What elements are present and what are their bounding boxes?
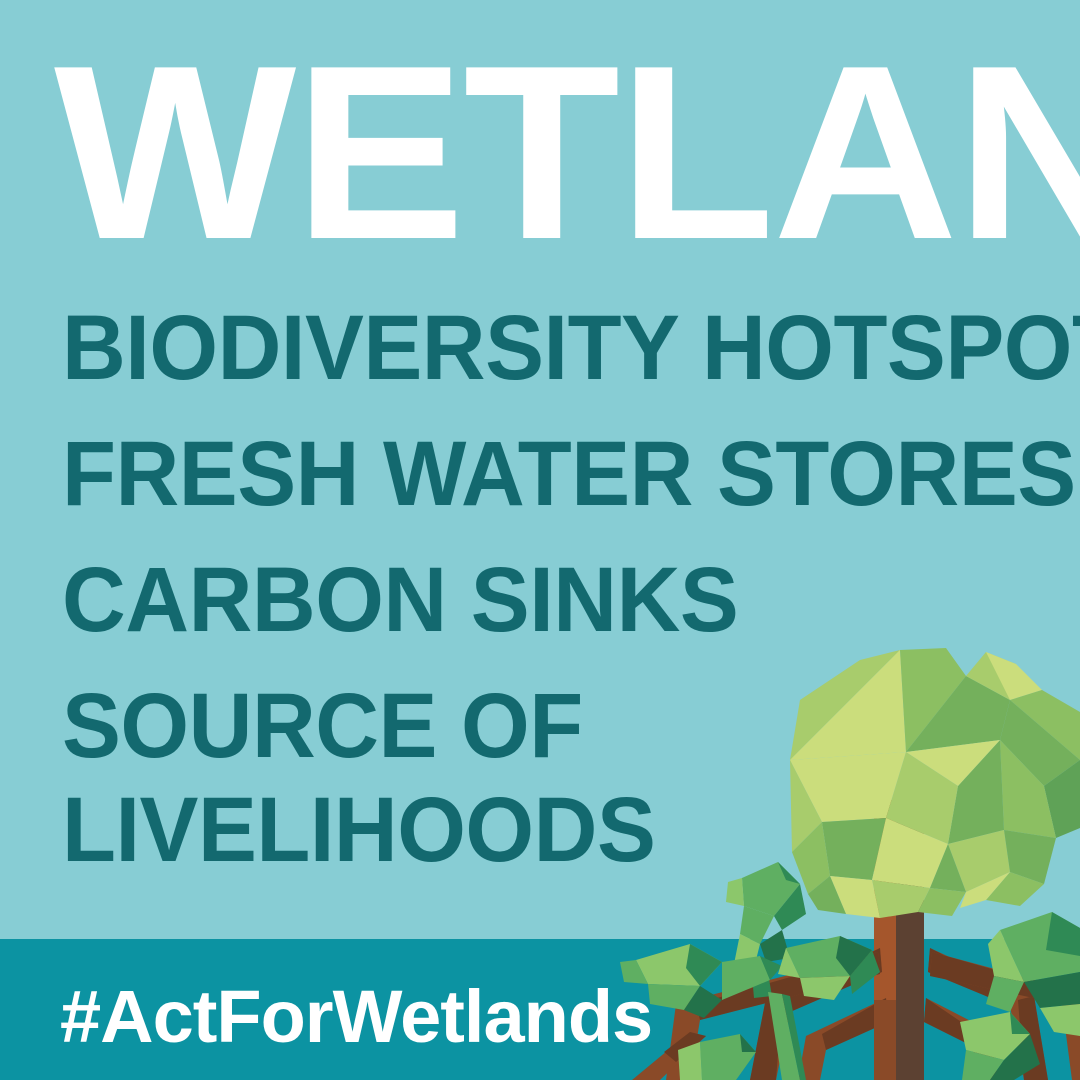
fact-item-source-of: SOURCE OF [62, 674, 1003, 778]
text-layer: WETLANDS BIODIVERSITY HOTSPOTS FRESH WAT… [0, 0, 1080, 1080]
wetlands-poster: WETLANDS BIODIVERSITY HOTSPOTS FRESH WAT… [0, 0, 1080, 1080]
campaign-hashtag: #ActForWetlands [60, 977, 652, 1057]
page-title: WETLANDS [54, 28, 1080, 276]
fact-item-carbon: CARBON SINKS [62, 548, 1003, 652]
fact-item-freshwater: FRESH WATER STORES [62, 422, 1003, 526]
fact-item-biodiversity: BIODIVERSITY HOTSPOTS [62, 296, 1003, 400]
fact-list: BIODIVERSITY HOTSPOTS FRESH WATER STORES… [62, 296, 1042, 882]
fact-item-livelihoods: LIVELIHOODS [62, 778, 1003, 882]
